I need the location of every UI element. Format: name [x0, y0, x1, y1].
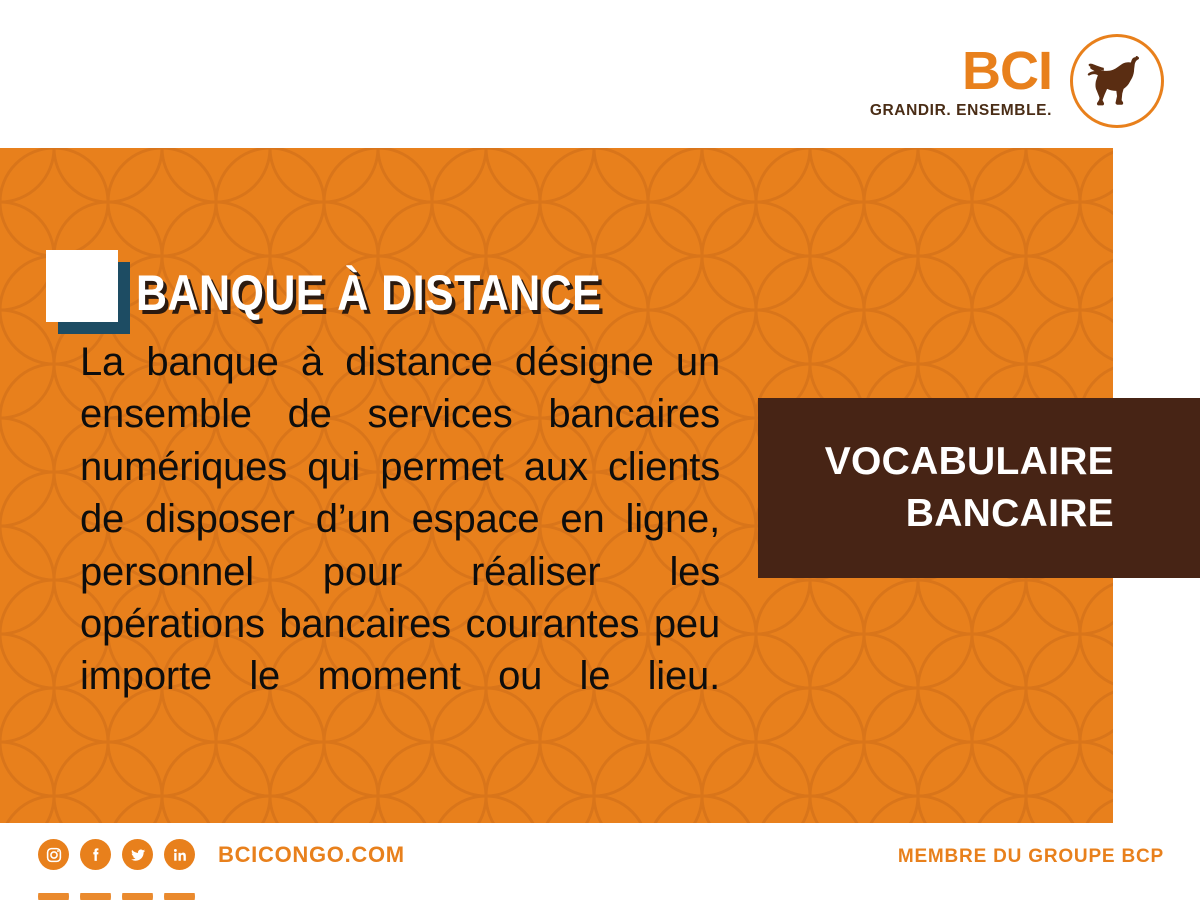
logo-tagline: GRANDIR. ENSEMBLE.: [870, 103, 1052, 119]
social-links: BCICONGO.COM: [38, 839, 405, 870]
facebook-icon[interactable]: [80, 839, 111, 870]
square-accent-icon: [46, 250, 132, 336]
horse-icon: [1070, 34, 1164, 128]
instagram-icon-partial[interactable]: [38, 893, 69, 900]
category-badge-line-1: VOCABULAIRE: [825, 436, 1114, 488]
linkedin-icon[interactable]: [164, 839, 195, 870]
logo-name: BCI: [870, 44, 1052, 98]
card-title-row: BANQUE À DISTANCE: [46, 250, 677, 336]
twitter-icon-partial[interactable]: [122, 893, 153, 900]
logo-wordmark: BCI GRANDIR. ENSEMBLE.: [870, 44, 1052, 119]
category-badge: VOCABULAIRE BANCAIRE: [758, 398, 1200, 578]
square-accent-front: [46, 250, 118, 322]
linkedin-icon-partial[interactable]: [164, 893, 195, 900]
group-membership-label: MEMBRE DU GROUPE BCP: [898, 846, 1164, 868]
page-footer: BCICONGO.COM MEMBRE DU GROUPE BCP: [0, 823, 1200, 900]
facebook-icon-partial[interactable]: [80, 893, 111, 900]
twitter-icon[interactable]: [122, 839, 153, 870]
instagram-icon[interactable]: [38, 839, 69, 870]
page-header: BCI GRANDIR. ENSEMBLE.: [0, 0, 1200, 148]
category-badge-line-2: BANCAIRE: [906, 488, 1114, 540]
website-link[interactable]: BCICONGO.COM: [218, 842, 405, 868]
card-body-text: La banque à distance désigne un ensemble…: [80, 336, 720, 755]
bci-logo[interactable]: BCI GRANDIR. ENSEMBLE.: [870, 34, 1164, 128]
page-title: BANQUE À DISTANCE: [136, 264, 601, 322]
social-links-partial: [38, 893, 195, 900]
